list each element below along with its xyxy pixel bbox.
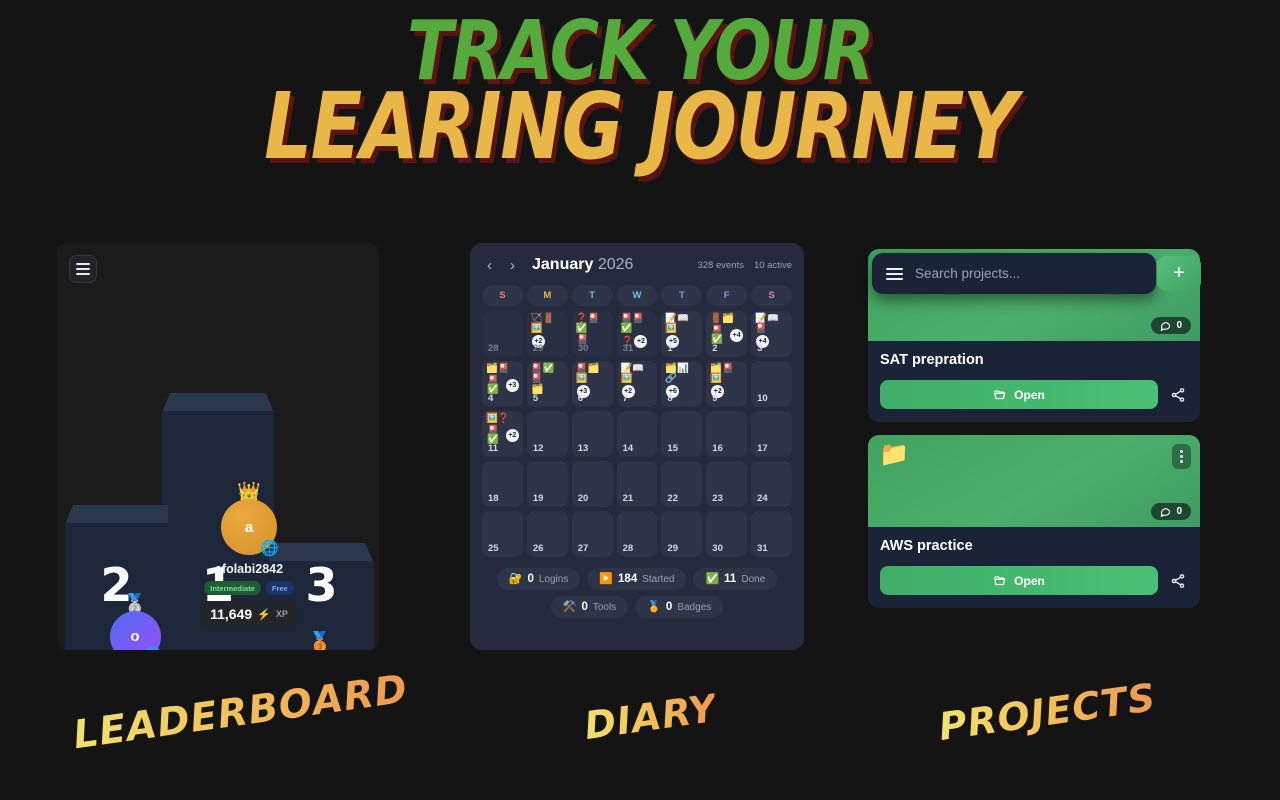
calendar-day-cell[interactable]: 🎴🎴✅❓+231: [617, 311, 658, 357]
stat-value: 0: [666, 601, 672, 613]
open-label: Open: [1014, 574, 1045, 588]
podium-rank-2: 2: [65, 558, 168, 612]
day-icon-row: 🗂️🎴: [486, 364, 519, 374]
bolt-icon: ⚡: [257, 608, 271, 621]
stat-label: Started: [642, 574, 674, 585]
day-number: 22: [667, 493, 678, 504]
day-number: 23: [712, 493, 723, 504]
calendar-day-cell[interactable]: 22: [661, 461, 702, 507]
caption-projects: PROJECTS: [936, 675, 1159, 749]
stat-icon: ⚒️: [563, 602, 577, 613]
medal-icon: 🥉: [308, 633, 332, 650]
xp-unit: XP: [276, 609, 288, 619]
calendar-day-cell[interactable]: 🚪🗂️🎴✅+42: [706, 311, 747, 357]
stat-value: 184: [618, 573, 637, 585]
day-number: 25: [488, 543, 499, 554]
calendar-meta: 328 events 10 active: [697, 260, 792, 271]
calendar-day-cell[interactable]: 17: [751, 411, 792, 457]
day-icon-row: 🎴🎴✅: [621, 314, 654, 333]
hamburger-icon[interactable]: [886, 268, 903, 280]
calendar-day-cell[interactable]: 18: [482, 461, 523, 507]
day-icon-row: 🏹🚪🖼️: [531, 314, 564, 333]
add-project-button[interactable]: +: [1157, 256, 1201, 291]
comment-count: 0: [1176, 506, 1182, 517]
project-cover: 📁0: [868, 435, 1200, 527]
stat-value: 0: [527, 573, 533, 585]
project-actions: Open: [880, 380, 1188, 409]
share-icon[interactable]: [1168, 387, 1188, 403]
open-label: Open: [1014, 388, 1045, 402]
stats-row-primary: 🔐0Logins▶️184Started✅11Done: [482, 568, 792, 590]
globe-icon: 🌐: [144, 648, 163, 650]
podium: 1 2 3 👑 a 🌐 afolabi2842: [57, 243, 379, 650]
day-number: 8: [667, 393, 672, 404]
weekday-header-row: SMTWTFS: [482, 285, 792, 306]
day-icon-row: 🗂️🎴🖼️: [710, 364, 743, 383]
calendar-header: ‹ › January 2026 328 events 10 active: [482, 256, 792, 274]
day-number: 21: [623, 493, 634, 504]
day-number: 12: [533, 443, 544, 454]
day-icon-row: 🎴✅🎴: [531, 364, 564, 383]
day-number: 4: [488, 393, 493, 404]
calendar-day-cell[interactable]: 📝📖🖼️+27: [617, 361, 658, 407]
calendar-day-cell[interactable]: 15: [661, 411, 702, 457]
day-icon-row-secondary: 🎴✅+3: [487, 376, 519, 395]
projects-panel: 📁0SAT preprationOpen📁0AWS practiceOpen: [864, 243, 1204, 661]
day-number: 16: [712, 443, 723, 454]
stat-label: Logins: [539, 574, 568, 585]
stat-label: Done: [741, 574, 765, 585]
stat-pill-logins[interactable]: 🔐0Logins: [497, 568, 581, 590]
calendar-day-cell[interactable]: 25: [482, 511, 523, 557]
day-number: 24: [757, 493, 768, 504]
folder-open-icon: [993, 388, 1007, 402]
day-number: 31: [757, 543, 768, 554]
project-body: SAT preprationOpen: [868, 341, 1200, 422]
search-projects-bar[interactable]: Search projects...: [872, 253, 1156, 294]
day-number: 26: [533, 543, 544, 554]
diary-stats: 🔐0Logins▶️184Started✅11Done ⚒️0Tools🏅0Ba…: [482, 568, 792, 618]
calendar-day-cell[interactable]: 🎴✅🎴🗂️5: [527, 361, 568, 407]
project-card[interactable]: 📁0AWS practiceOpen: [868, 435, 1200, 608]
day-number: 6: [578, 393, 583, 404]
diary-panel: ‹ › January 2026 328 events 10 active SM…: [470, 243, 804, 650]
more-options-icon[interactable]: [1172, 444, 1191, 469]
day-icon-row: ❓🎴✅: [576, 314, 609, 333]
leaderboard-panel: 1 2 3 👑 a 🌐 afolabi2842: [57, 243, 379, 650]
calendar-day-cell[interactable]: 31: [751, 511, 792, 557]
day-icon-row: 🖼️❓: [486, 414, 519, 424]
level-badge: Intermediate: [204, 581, 261, 595]
weekday-3: W: [617, 285, 658, 306]
day-number: 9: [712, 393, 717, 404]
podium-block-top: [65, 505, 168, 525]
open-project-button[interactable]: Open: [880, 380, 1158, 409]
caption-diary: DIARY: [582, 686, 720, 748]
day-icon-row: 🚪🗂️: [710, 314, 743, 324]
weekday-0: S: [482, 285, 523, 306]
stat-icon: 🏅: [647, 602, 661, 613]
avatar: 🥈 o 🌐: [110, 611, 161, 650]
calendar-month: January: [532, 256, 593, 273]
avatar: 👑 a 🌐: [221, 499, 277, 555]
project-body: AWS practiceOpen: [868, 527, 1200, 608]
day-number: 20: [578, 493, 589, 504]
stat-icon: ▶️: [599, 574, 613, 585]
day-number: 2: [712, 343, 717, 354]
project-title: AWS practice: [880, 538, 1188, 554]
day-number: 13: [578, 443, 589, 454]
calendar-day-cell[interactable]: 23: [706, 461, 747, 507]
calendar-grid: 28🏹🚪🖼️+229❓🎴✅🎴30🎴🎴✅❓+231📝📖🖼️+51🚪🗂️🎴✅+42📝…: [482, 311, 792, 557]
active-count: 10 active: [754, 260, 792, 271]
day-number: 10: [757, 393, 768, 404]
calendar-day-cell[interactable]: 🗂️📊🔗+68: [661, 361, 702, 407]
stat-icon: 🔐: [509, 574, 523, 585]
calendar-day-cell[interactable]: 14: [617, 411, 658, 457]
calendar-year: 2026: [598, 256, 634, 273]
stat-pill-started[interactable]: ▶️184Started: [587, 568, 686, 590]
calendar-day-cell[interactable]: 12: [527, 411, 568, 457]
calendar-day-cell[interactable]: 19: [527, 461, 568, 507]
stat-label: Tools: [593, 602, 616, 613]
stat-icon: ✅: [705, 574, 719, 585]
project-title: SAT prepration: [880, 352, 1188, 368]
calendar-day-cell[interactable]: 21: [617, 461, 658, 507]
day-number: 30: [712, 543, 723, 554]
stat-pill-done[interactable]: ✅11Done: [693, 568, 777, 590]
day-number: 29: [533, 343, 544, 354]
day-number: 19: [533, 493, 544, 504]
calendar-day-cell[interactable]: 24: [751, 461, 792, 507]
weekday-4: T: [661, 285, 702, 306]
day-number: 7: [623, 393, 628, 404]
day-number: 5: [533, 393, 538, 404]
projects-list: 📁0SAT preprationOpen📁0AWS practiceOpen: [868, 249, 1200, 621]
day-number: 28: [623, 543, 634, 554]
open-project-button[interactable]: Open: [880, 566, 1158, 595]
day-icon-row: 📝📖🎴: [755, 314, 788, 333]
caption-leaderboard: LEADERBOARD: [71, 667, 411, 758]
weekday-5: F: [706, 285, 747, 306]
xp-box: 11,649 ⚡ XP: [199, 601, 299, 627]
day-icon-row: 🎴🗂️🖼️: [576, 364, 609, 383]
avatar-initial: o: [110, 611, 161, 650]
avatar: 🥉 y 🌐: [295, 649, 346, 650]
day-number: 17: [757, 443, 768, 454]
day-overflow-count: +2: [634, 335, 647, 348]
stat-pill-tools[interactable]: ⚒️0Tools: [551, 596, 628, 618]
day-number: 11: [488, 443, 498, 454]
day-overflow-count: +2: [506, 429, 519, 442]
podium-block-top: [162, 393, 274, 413]
comment-count-badge: 0: [1151, 503, 1191, 520]
day-number: 15: [667, 443, 678, 454]
day-number: 1: [667, 343, 672, 354]
hero-title: TRACK YOUR LEARING JOURNEY: [0, 14, 1280, 170]
calendar-day-cell[interactable]: 29: [661, 511, 702, 557]
day-icon-row: 📝📖🖼️: [665, 314, 698, 333]
promo-graphic: TRACK YOUR LEARING JOURNEY 1 2 3: [0, 0, 1280, 800]
next-month-icon[interactable]: ›: [505, 256, 520, 274]
leaderboard-player-2[interactable]: 🥈 o 🌐 olabanji7264 Intermediate Free 8,4…: [60, 611, 210, 650]
calendar-day-cell[interactable]: 20: [572, 461, 613, 507]
comment-count: 0: [1176, 320, 1182, 331]
leaderboard-player-1[interactable]: 👑 a 🌐 afolabi2842 Intermediate Free 11,6…: [164, 499, 334, 627]
stat-value: 11: [724, 573, 736, 585]
day-overflow-count: +3: [506, 379, 519, 392]
calendar-day-cell[interactable]: 13: [572, 411, 613, 457]
folder-icon: 📁: [879, 443, 909, 467]
hero-title-line-2: LEARING JOURNEY: [115, 85, 1165, 170]
player-name: afolabi2842: [164, 562, 334, 576]
globe-icon: 🌐: [260, 541, 279, 556]
calendar-day-cell[interactable]: 📝📖🎴+43: [751, 311, 792, 357]
day-icon-row-secondary: 🎴✅+4: [711, 326, 743, 345]
folder-open-icon: [993, 574, 1007, 588]
project-actions: Open: [880, 566, 1188, 595]
calendar-day-cell[interactable]: 28: [482, 311, 523, 357]
prev-month-icon[interactable]: ‹: [482, 256, 497, 274]
weekday-2: T: [572, 285, 613, 306]
weekday-1: M: [527, 285, 568, 306]
comment-count-badge: 0: [1151, 317, 1191, 334]
day-number: 14: [623, 443, 634, 454]
calendar-day-cell[interactable]: ❓🎴✅🎴30: [572, 311, 613, 357]
day-icon-row: 🗂️📊🔗: [665, 364, 698, 383]
day-overflow-count: +4: [730, 329, 743, 342]
day-number: 28: [488, 343, 499, 354]
day-icon-row-secondary: 🎴✅+2: [487, 426, 519, 445]
calendar-day-cell[interactable]: 26: [527, 511, 568, 557]
day-number: 27: [578, 543, 589, 554]
stat-value: 0: [581, 601, 587, 613]
player-tags: Intermediate Free: [164, 581, 334, 595]
day-number: 30: [578, 343, 589, 354]
day-number: 18: [488, 493, 499, 504]
stat-pill-badges[interactable]: 🏅0Badges: [635, 596, 723, 618]
calendar-day-cell[interactable]: 30: [706, 511, 747, 557]
calendar-day-cell[interactable]: 🖼️❓🎴✅+211: [482, 411, 523, 457]
day-icon-row: 📝📖🖼️: [621, 364, 654, 383]
calendar-day-cell[interactable]: 16: [706, 411, 747, 457]
plan-badge: Free: [266, 581, 294, 595]
xp-value: 11,649: [210, 606, 252, 622]
calendar-day-cell[interactable]: 10: [751, 361, 792, 407]
calendar-day-cell[interactable]: 📝📖🖼️+51: [661, 311, 702, 357]
stats-row-secondary: ⚒️0Tools🏅0Badges: [482, 596, 792, 618]
calendar-title: January 2026: [532, 256, 633, 274]
calendar-day-cell[interactable]: 🏹🚪🖼️+229: [527, 311, 568, 357]
comment-icon: [1160, 506, 1171, 517]
calendar-day-cell[interactable]: 27: [572, 511, 613, 557]
day-number: 31: [623, 343, 634, 354]
share-icon[interactable]: [1168, 573, 1188, 589]
search-input[interactable]: Search projects...: [915, 266, 1020, 281]
calendar-day-cell[interactable]: 28: [617, 511, 658, 557]
calendar-day-cell[interactable]: 🗂️🎴🎴✅+34: [482, 361, 523, 407]
day-number: 29: [667, 543, 678, 554]
weekday-6: S: [751, 285, 792, 306]
calendar-day-cell[interactable]: 🎴🗂️🖼️+36: [572, 361, 613, 407]
comment-icon: [1160, 320, 1171, 331]
day-number: 3: [757, 343, 762, 354]
events-count: 328 events: [697, 260, 743, 271]
calendar-day-cell[interactable]: 🗂️🎴🖼️+29: [706, 361, 747, 407]
avatar-initial: y: [295, 649, 346, 650]
stat-label: Badges: [677, 602, 711, 613]
leaderboard-player-3[interactable]: 🥉 y 🌐 yusuf3799 Intermediate Free 7,162 …: [245, 649, 379, 650]
